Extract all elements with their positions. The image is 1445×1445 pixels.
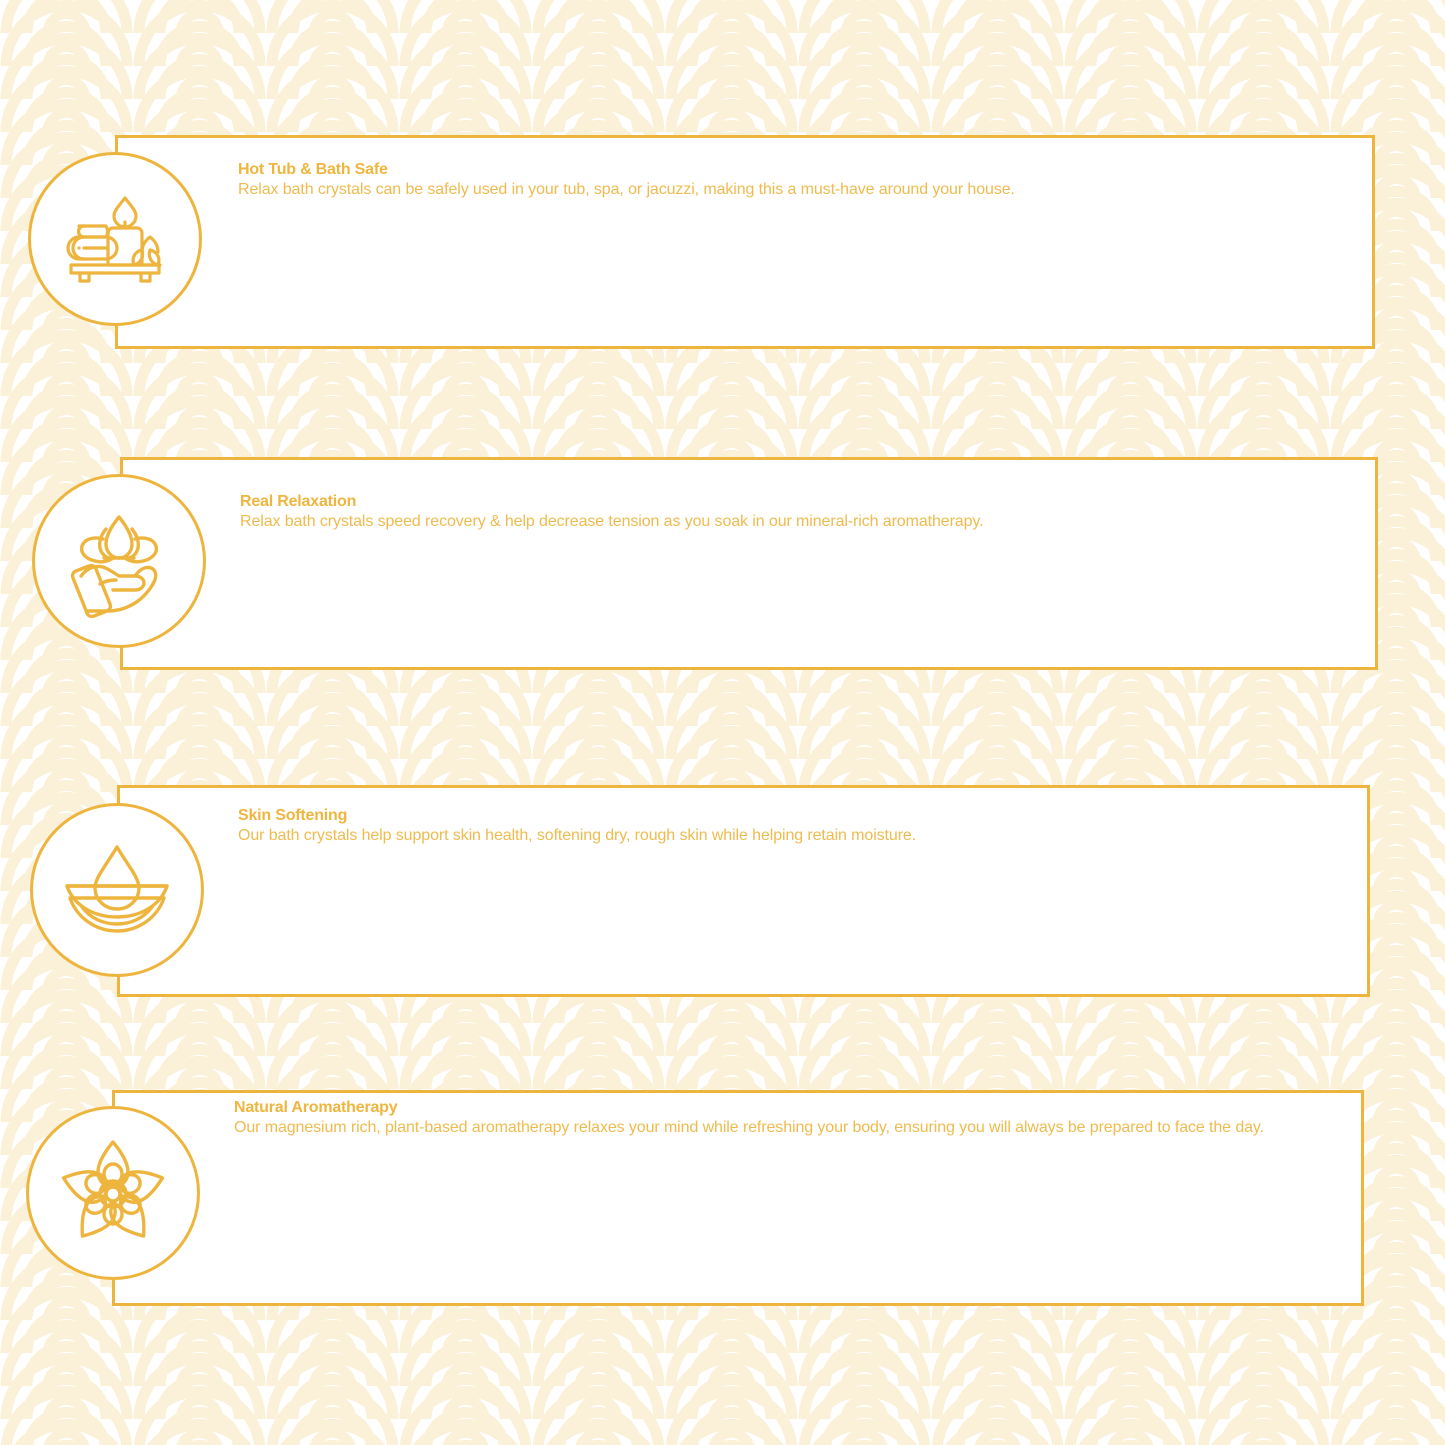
- feature-icon-badge: [32, 474, 206, 648]
- feature-card-inner: [123, 460, 1375, 667]
- five-petal-flower-icon: [52, 1132, 174, 1254]
- feature-title: Hot Tub & Bath Safe: [238, 162, 1298, 178]
- hand-holding-lotus-icon: [59, 501, 179, 621]
- feature-card-real-relaxation: [120, 457, 1378, 670]
- feature-text-block: Real Relaxation Relax bath crystals spee…: [240, 494, 1315, 533]
- feature-list-infographic: Hot Tub & Bath Safe Relax bath crystals …: [0, 0, 1445, 1445]
- feature-body: Relax bath crystals can be safely used i…: [238, 180, 1298, 201]
- feature-body: Our magnesium rich, plant-based aromathe…: [234, 1118, 1279, 1139]
- feature-body: Our bath crystals help support skin heal…: [238, 826, 1248, 847]
- feature-text-block: Hot Tub & Bath Safe Relax bath crystals …: [238, 162, 1298, 201]
- feature-body: Relax bath crystals speed recovery & hel…: [240, 512, 1315, 533]
- feature-icon-badge: [30, 803, 204, 977]
- candle-towels-spa-icon: [56, 180, 174, 298]
- feature-icon-badge: [28, 152, 202, 326]
- feature-text-block: Skin Softening Our bath crystals help su…: [238, 808, 1248, 847]
- feature-title: Real Relaxation: [240, 494, 1315, 510]
- feature-text-block: Natural Aromatherapy Our magnesium rich,…: [234, 1100, 1279, 1139]
- feature-icon-badge: [26, 1106, 200, 1280]
- feature-title: Natural Aromatherapy: [234, 1100, 1279, 1116]
- feature-title: Skin Softening: [238, 808, 1248, 824]
- water-droplet-bowl-icon: [56, 829, 178, 951]
